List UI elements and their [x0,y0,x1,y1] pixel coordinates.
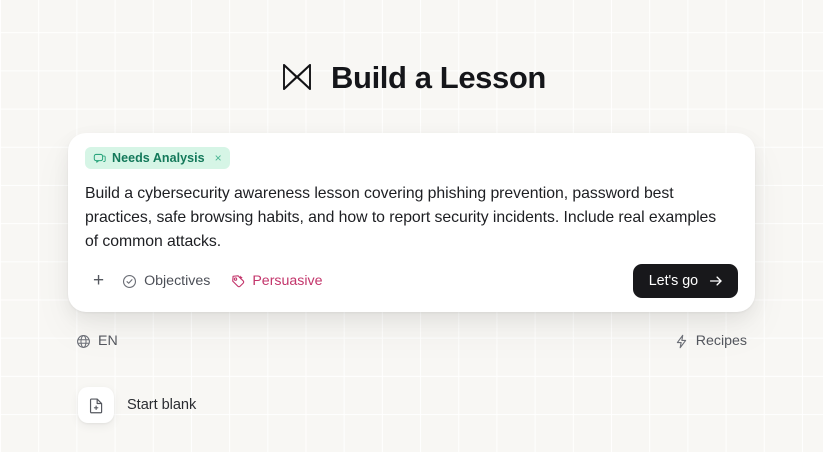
tag-sparkle-icon [230,274,245,289]
arrow-right-icon [708,273,724,289]
submit-label: Let's go [649,273,698,289]
recipes-button[interactable]: Recipes [666,327,755,355]
speech-bubble-icon [93,152,106,165]
chip-label: Needs Analysis [112,151,205,165]
status-badge-needs-analysis[interactable]: Needs Analysis × [85,147,230,169]
globe-icon [76,334,91,349]
objectives-button[interactable]: Objectives [112,266,220,296]
page-title: Build a Lesson [331,62,546,93]
prompt-card: Needs Analysis × Build a cybersecurity a… [68,133,755,312]
submit-button[interactable]: Let's go [633,264,738,298]
butterfly-logo-icon [277,57,317,97]
start-blank-icon-box [78,387,114,423]
check-circle-icon [122,274,137,289]
close-icon[interactable]: × [215,152,222,164]
recipes-label: Recipes [696,333,747,349]
start-blank-button[interactable]: Start blank [78,387,196,423]
plus-icon: + [93,271,104,290]
card-options-row: EN Recipes [68,326,755,356]
tone-label: Persuasive [252,273,322,289]
language-selector[interactable]: EN [68,327,126,355]
card-footer: + Objectives Persuasive Let's go [85,264,738,298]
add-attachment-button[interactable]: + [85,266,112,296]
prompt-text[interactable]: Build a cybersecurity awareness lesson c… [85,182,728,254]
document-plus-icon [88,397,105,414]
chip-row: Needs Analysis × [85,147,738,169]
tone-button[interactable]: Persuasive [220,266,332,296]
lightning-bolt-icon [674,334,689,349]
language-label: EN [98,333,118,349]
objectives-label: Objectives [144,273,210,289]
card-footer-tools: + Objectives Persuasive [85,266,333,296]
start-blank-label: Start blank [127,397,196,413]
page-header: Build a Lesson [0,57,823,97]
